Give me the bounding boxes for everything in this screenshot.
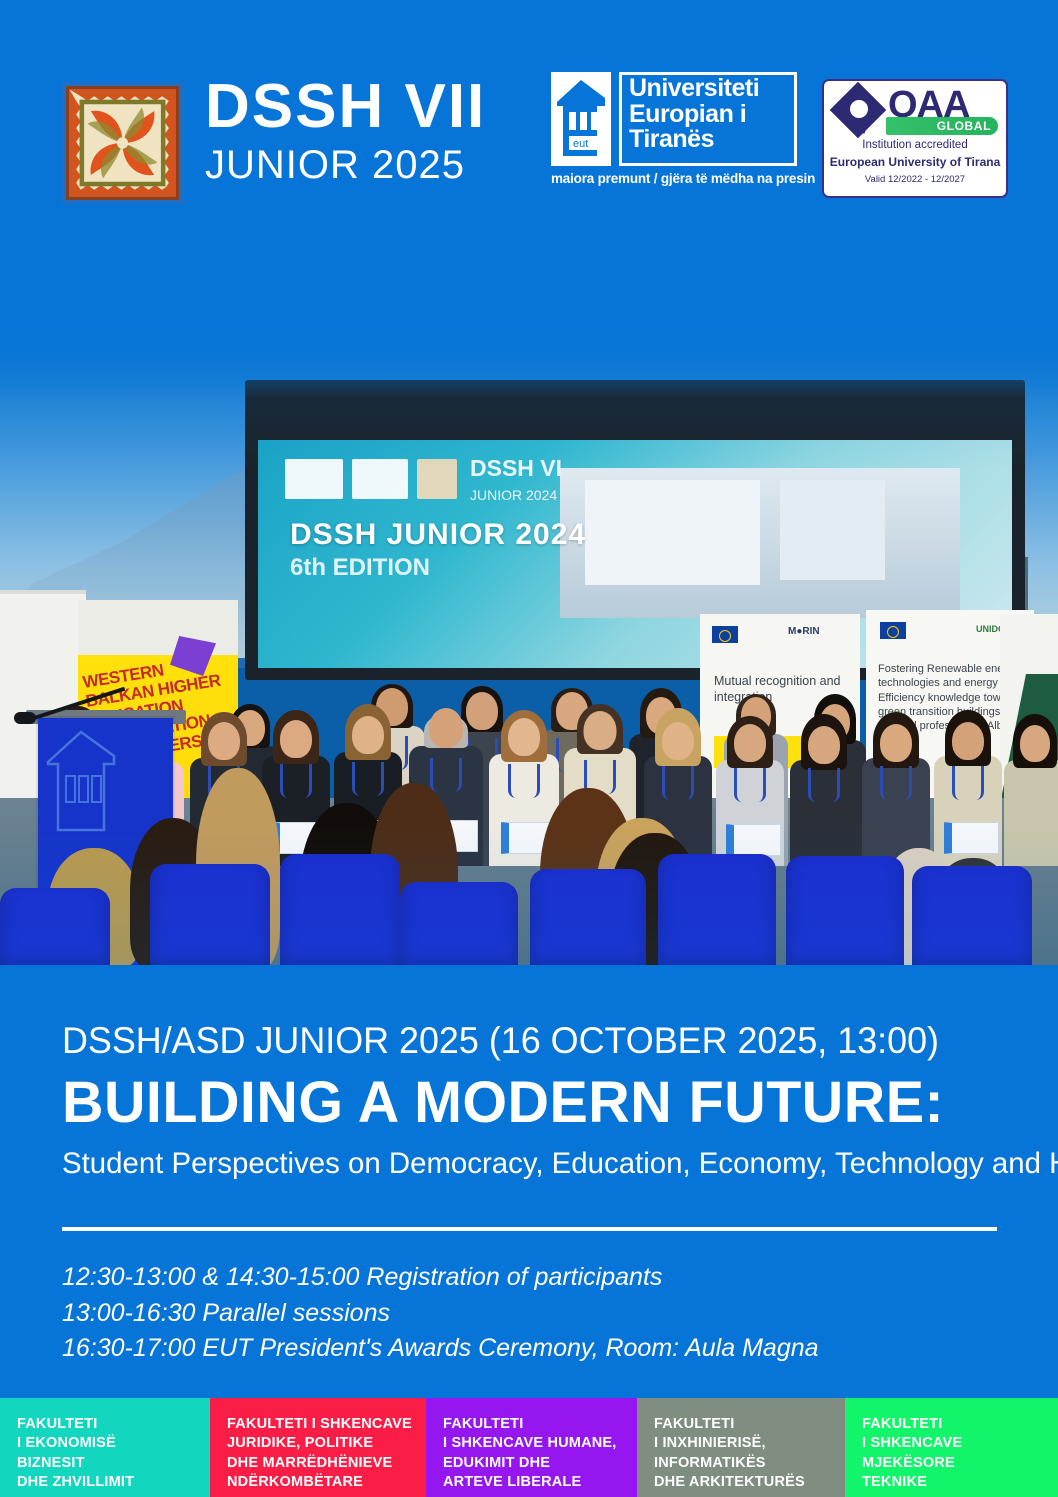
faculty-line: I INXHINIERISË, <box>654 1434 845 1453</box>
faculty-line: FAKULTETI <box>862 1415 1058 1434</box>
faculty-economy: FAKULTETI I EKONOMISË BIZNESIT DHE ZHVIL… <box>0 1398 210 1497</box>
qaa-diamond-hole <box>850 100 868 118</box>
faculty-line: I SHKENCAVE HUMANE, <box>443 1434 637 1453</box>
poster-header: DSSH VII JUNIOR 2025 eut Universiteti Eu… <box>0 0 1058 330</box>
faculty-line: TEKNIKE <box>862 1473 1058 1492</box>
page-title: BUILDING A MODERN FUTURE: <box>62 1069 944 1136</box>
brand-title: DSSH VII <box>205 78 535 137</box>
faculty-line: NDËRKOMBËTARE <box>227 1473 426 1492</box>
event-kicker: DSSH/ASD JUNIOR 2025 (16 OCTOBER 2025, 1… <box>62 1020 939 1062</box>
faculty-line: DHE ARKITEKTURËS <box>654 1473 845 1492</box>
faculty-line: FAKULTETI I SHKENCAVE <box>227 1415 426 1434</box>
faculty-line: FAKULTETI <box>17 1415 210 1434</box>
uet-name-box: Universiteti Europian i Tiranës <box>619 72 797 166</box>
qaa-global-label: GLOBAL <box>937 119 991 133</box>
schedule-list: 12:30-13:00 & 14:30-15:00 Registration o… <box>62 1260 819 1367</box>
schedule-item: 16:30-17:00 EUT President's Awards Cerem… <box>62 1331 819 1367</box>
faculty-line: ARTEVE LIBERALE <box>443 1473 637 1492</box>
uet-line-3: Tiranës <box>629 127 759 153</box>
faculty-engineering: FAKULTETI I INXHINIERISË, INFORMATIKËS D… <box>637 1398 845 1497</box>
schedule-item: 13:00-16:30 Parallel sessions <box>62 1296 819 1332</box>
faculty-line: JURIDIKE, POLITIKE <box>227 1434 426 1453</box>
event-poster: DSSH VII JUNIOR 2025 eut Universiteti Eu… <box>0 0 1058 1497</box>
photo-tint-overlay <box>0 328 1058 965</box>
uet-line-1: Universiteti <box>629 76 759 102</box>
faculty-line: I SHKENCAVE <box>862 1434 1058 1453</box>
faculty-humanities: FAKULTETI I SHKENCAVE HUMANE, EDUKIMIT D… <box>426 1398 637 1497</box>
qaa-accreditation-logo: QAA GLOBAL Institution accredited Europe… <box>822 79 1008 198</box>
mosaic-spiral-icon <box>66 86 179 200</box>
uet-motto: maiora premunt / gjëra të mëdha na presi… <box>551 171 797 186</box>
brand-subtitle: JUNIOR 2025 <box>205 143 535 188</box>
schedule-item: 12:30-13:00 & 14:30-15:00 Registration o… <box>62 1260 819 1296</box>
uet-name-text: Universiteti Europian i Tiranës <box>629 76 759 153</box>
faculty-line: MJEKËSORE <box>862 1454 1058 1473</box>
qaa-line-3: Valid 12/2022 - 12/2027 <box>824 174 1006 185</box>
faculty-law-politics: FAKULTETI I SHKENCAVE JURIDIKE, POLITIKE… <box>210 1398 426 1497</box>
faculty-line: FAKULTETI <box>443 1415 637 1434</box>
faculty-line: I EKONOMISË <box>17 1434 210 1453</box>
uet-building-icon: eut <box>551 72 611 166</box>
qaa-line-2: European University of Tirana <box>824 155 1006 169</box>
faculty-line: DHE MARRËDHËNIEVE <box>227 1454 426 1473</box>
svg-text:eut: eut <box>573 138 588 150</box>
uet-house-glyph: eut <box>551 72 611 166</box>
faculty-strip: FAKULTETI I EKONOMISË BIZNESIT DHE ZHVIL… <box>0 1398 1058 1497</box>
faculty-line: EDUKIMIT DHE <box>443 1454 637 1473</box>
dssh-mosaic-tile-logo <box>62 82 183 204</box>
brand-block: DSSH VII JUNIOR 2025 <box>205 78 535 188</box>
faculty-medical: FAKULTETI I SHKENCAVE MJEKËSORE TEKNIKE <box>845 1398 1058 1497</box>
faculty-line: BIZNESIT <box>17 1454 210 1473</box>
photo-top-fade <box>0 328 1058 398</box>
faculty-line: INFORMATIKËS <box>654 1454 845 1473</box>
faculty-line: FAKULTETI <box>654 1415 845 1434</box>
poster-main-text: DSSH/ASD JUNIOR 2025 (16 OCTOBER 2025, 1… <box>0 965 1058 1395</box>
faculty-line: DHE ZHVILLIMIT <box>17 1473 210 1492</box>
event-subtitle: Student Perspectives on Democracy, Educa… <box>62 1147 1058 1181</box>
qaa-line-1: Institution accredited <box>824 139 1006 151</box>
uet-line-2: Europian i <box>629 102 759 128</box>
divider <box>62 1227 997 1231</box>
uet-logo: eut Universiteti Europian i Tiranës maio… <box>551 72 797 207</box>
ceremony-photo: DSSH VIJUNIOR 2024 DSSH JUNIOR 2024 6th … <box>0 328 1058 965</box>
qaa-global-banner: GLOBAL <box>886 117 998 135</box>
